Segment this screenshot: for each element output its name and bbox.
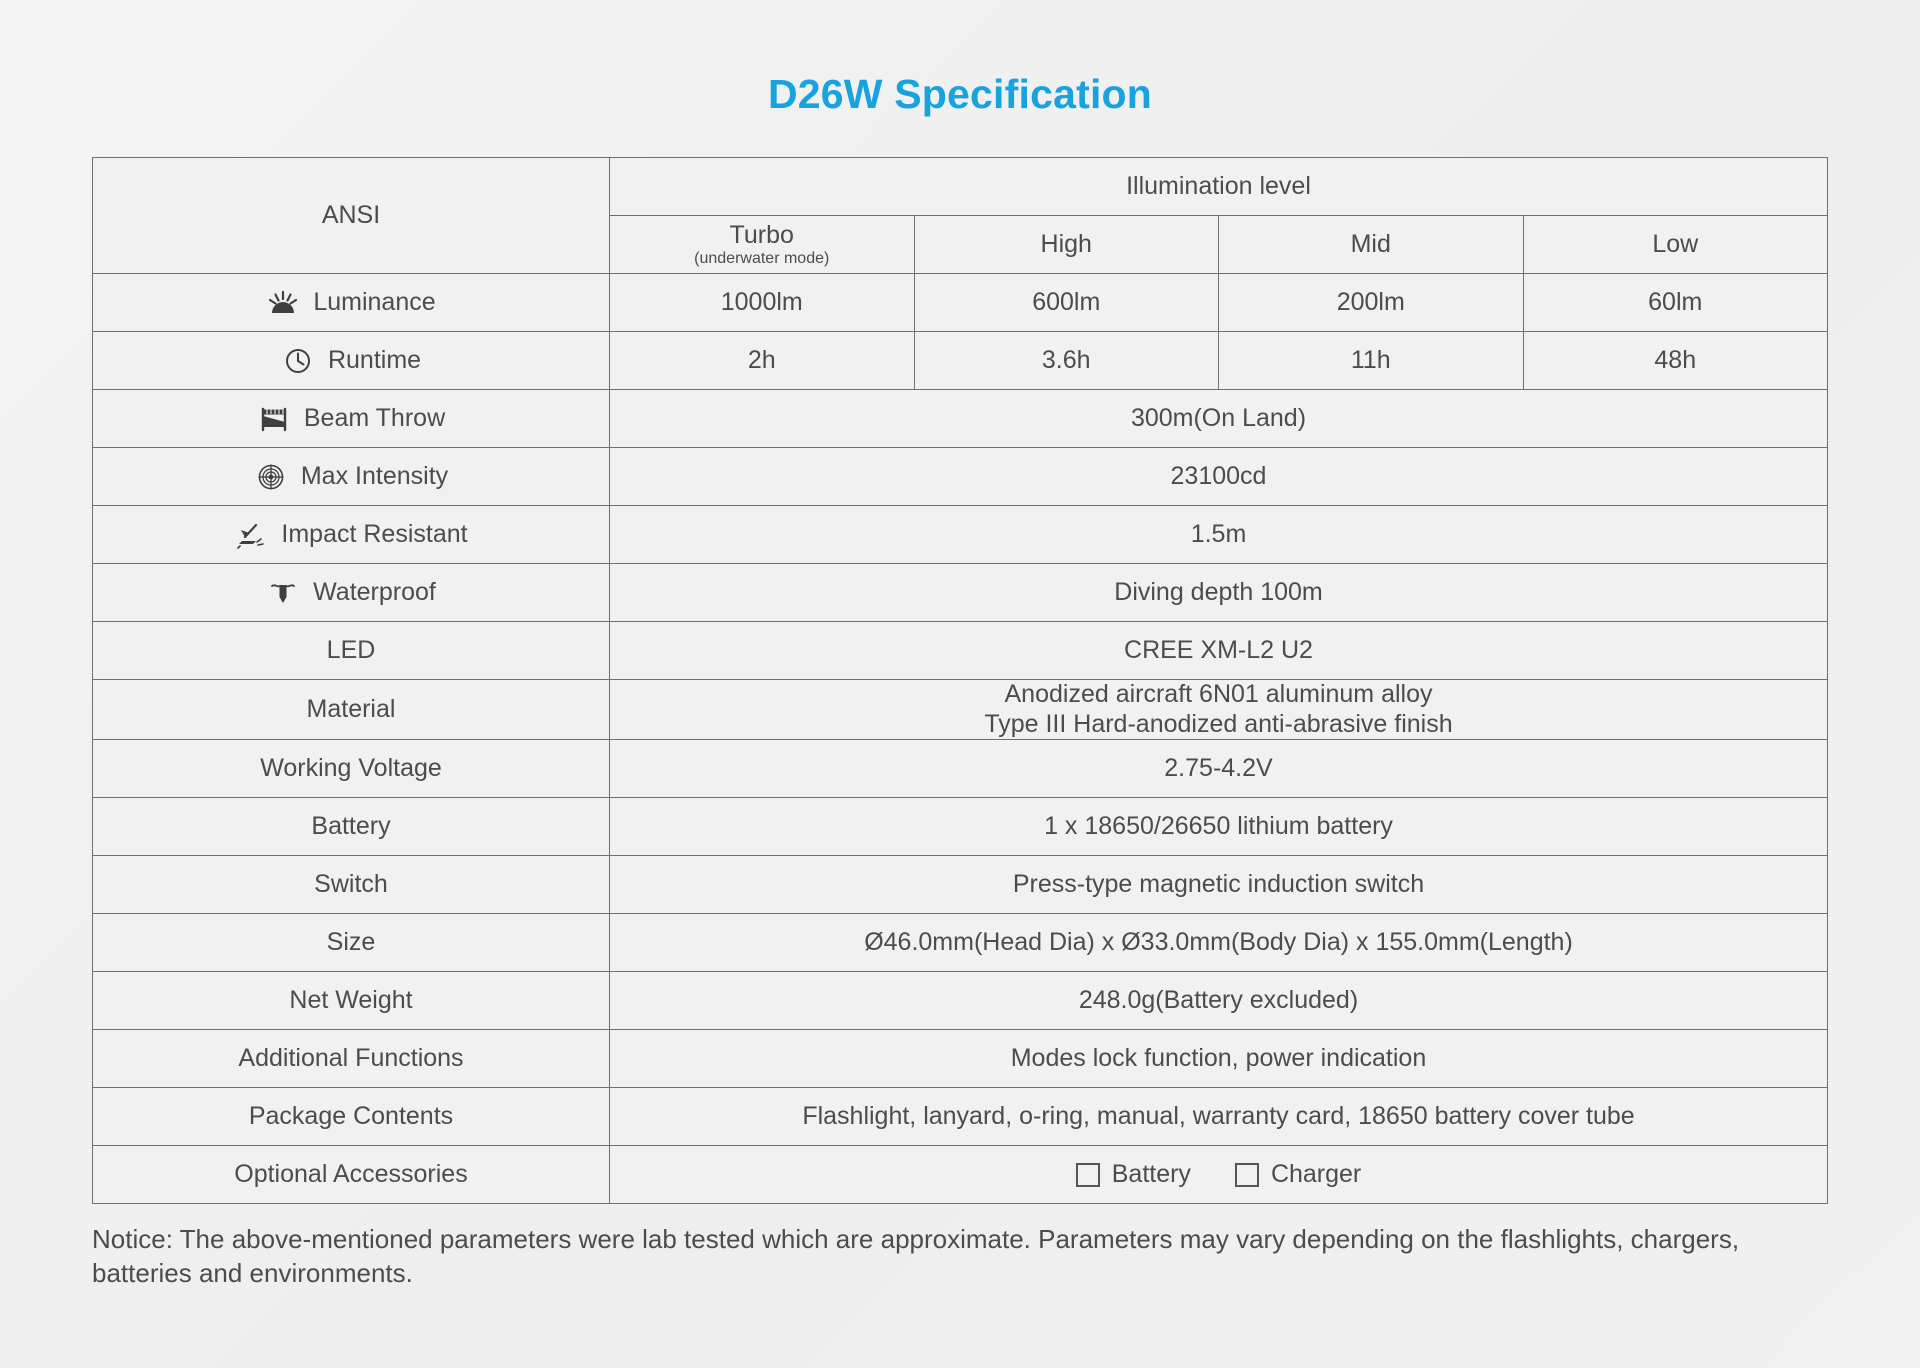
mode-header-mid: Mid — [1219, 216, 1524, 274]
row-label-runtime: Runtime — [93, 332, 610, 390]
cell-runtime-low: 48h — [1523, 332, 1828, 390]
row-label-impact-resistant: Impact Resistant — [93, 506, 610, 564]
row-label-led: LED — [93, 622, 610, 680]
row-label-text-luminance: Luminance — [313, 288, 435, 317]
mode-header-turbo: Turbo (underwater mode) — [610, 216, 915, 274]
row-label-beam-throw: Beam Throw — [93, 390, 610, 448]
table-row-switch: Switch Press-type magnetic induction swi… — [93, 856, 1828, 914]
mode-header-low: Low — [1523, 216, 1828, 274]
checkbox-battery[interactable] — [1076, 1163, 1100, 1187]
table-row-net-weight: Net Weight 248.0g(Battery excluded) — [93, 972, 1828, 1030]
diving-depth-icon — [266, 578, 300, 608]
clock-icon — [281, 346, 315, 376]
mode-header-high: High — [914, 216, 1219, 274]
table-row-beam-throw: Beam Throw 300m(On Land) — [93, 390, 1828, 448]
row-label-text-runtime: Runtime — [328, 346, 421, 375]
specification-table-container: ANSI Illumination level Turbo (underwate… — [92, 157, 1828, 1204]
material-line-1: Anodized aircraft 6N01 aluminum alloy — [610, 680, 1827, 710]
cell-net-weight-value: 248.0g(Battery excluded) — [610, 972, 1828, 1030]
mode-label-turbo: Turbo — [730, 221, 794, 249]
cell-waterproof-value: Diving depth 100m — [610, 564, 1828, 622]
row-label-material: Material — [93, 680, 610, 740]
beam-ruler-icon — [257, 404, 291, 434]
row-label-additional-functions: Additional Functions — [93, 1030, 610, 1088]
cell-led-value: CREE XM-L2 U2 — [610, 622, 1828, 680]
row-label-luminance: Luminance — [93, 274, 610, 332]
cell-battery-value: 1 x 18650/26650 lithium battery — [610, 798, 1828, 856]
row-label-net-weight: Net Weight — [93, 972, 610, 1030]
table-row-battery: Battery 1 x 18650/26650 lithium battery — [93, 798, 1828, 856]
mode-sublabel-turbo: (underwater mode) — [610, 251, 914, 268]
cell-switch-value: Press-type magnetic induction switch — [610, 856, 1828, 914]
cell-size-value: Ø46.0mm(Head Dia) x Ø33.0mm(Body Dia) x … — [610, 914, 1828, 972]
accessory-option-charger[interactable]: Charger — [1235, 1160, 1361, 1189]
table-row-working-voltage: Working Voltage 2.75-4.2V — [93, 740, 1828, 798]
row-label-text-max-intensity: Max Intensity — [301, 462, 448, 491]
cell-luminance-high: 600lm — [914, 274, 1219, 332]
cell-additional-functions-value: Modes lock function, power indication — [610, 1030, 1828, 1088]
table-row-max-intensity: Max Intensity 23100cd — [93, 448, 1828, 506]
accessory-option-battery[interactable]: Battery — [1076, 1160, 1191, 1189]
spec-sheet-page: D26W Specification ANSI Illumination lev… — [0, 0, 1920, 1368]
material-line-2: Type III Hard-anodized anti-abrasive fin… — [610, 710, 1827, 740]
table-row-impact-resistant: Impact Resistant 1.5m — [93, 506, 1828, 564]
table-row-header-illumination: ANSI Illumination level — [93, 158, 1828, 216]
table-row-waterproof: Waterproof Diving depth 100m — [93, 564, 1828, 622]
cell-luminance-low: 60lm — [1523, 274, 1828, 332]
cell-max-intensity-value: 23100cd — [610, 448, 1828, 506]
ansi-header-cell: ANSI — [93, 158, 610, 274]
row-label-waterproof: Waterproof — [93, 564, 610, 622]
cell-package-contents-value: Flashlight, lanyard, o-ring, manual, war… — [610, 1088, 1828, 1146]
impact-arrow-icon — [234, 520, 268, 550]
checkbox-charger[interactable] — [1235, 1163, 1259, 1187]
row-label-size: Size — [93, 914, 610, 972]
table-row-material: Material Anodized aircraft 6N01 aluminum… — [93, 680, 1828, 740]
table-row-size: Size Ø46.0mm(Head Dia) x Ø33.0mm(Body Di… — [93, 914, 1828, 972]
radar-target-icon — [254, 462, 288, 492]
cell-working-voltage-value: 2.75-4.2V — [610, 740, 1828, 798]
row-label-optional-accessories: Optional Accessories — [93, 1146, 610, 1204]
accessory-label-battery: Battery — [1112, 1160, 1191, 1189]
cell-runtime-high: 3.6h — [914, 332, 1219, 390]
table-row-additional-functions: Additional Functions Modes lock function… — [93, 1030, 1828, 1088]
table-row-package-contents: Package Contents Flashlight, lanyard, o-… — [93, 1088, 1828, 1146]
row-label-max-intensity: Max Intensity — [93, 448, 610, 506]
cell-optional-accessories-value: Battery Charger — [610, 1146, 1828, 1204]
cell-beam-throw-value: 300m(On Land) — [610, 390, 1828, 448]
table-row-optional-accessories: Optional Accessories Battery Charger — [93, 1146, 1828, 1204]
row-label-text-waterproof: Waterproof — [313, 578, 436, 607]
illumination-level-header: Illumination level — [610, 158, 1828, 216]
row-label-switch: Switch — [93, 856, 610, 914]
cell-runtime-turbo: 2h — [610, 332, 915, 390]
cell-runtime-mid: 11h — [1219, 332, 1524, 390]
cell-material-value: Anodized aircraft 6N01 aluminum alloy Ty… — [610, 680, 1828, 740]
cell-luminance-turbo: 1000lm — [610, 274, 915, 332]
page-title: D26W Specification — [0, 0, 1920, 117]
accessory-label-charger: Charger — [1271, 1160, 1361, 1189]
row-label-working-voltage: Working Voltage — [93, 740, 610, 798]
row-label-package-contents: Package Contents — [93, 1088, 610, 1146]
table-row-led: LED CREE XM-L2 U2 — [93, 622, 1828, 680]
row-label-text-beam-throw: Beam Throw — [304, 404, 445, 433]
sunburst-icon — [266, 288, 300, 318]
cell-impact-resistant-value: 1.5m — [610, 506, 1828, 564]
table-row-runtime: Runtime 2h 3.6h 11h 48h — [93, 332, 1828, 390]
table-row-luminance: Luminance 1000lm 600lm 200lm 60lm — [93, 274, 1828, 332]
row-label-battery: Battery — [93, 798, 610, 856]
specification-table: ANSI Illumination level Turbo (underwate… — [92, 157, 1828, 1204]
cell-luminance-mid: 200lm — [1219, 274, 1524, 332]
row-label-text-impact-resistant: Impact Resistant — [281, 520, 467, 549]
notice-text: Notice: The above-mentioned parameters w… — [92, 1222, 1828, 1291]
